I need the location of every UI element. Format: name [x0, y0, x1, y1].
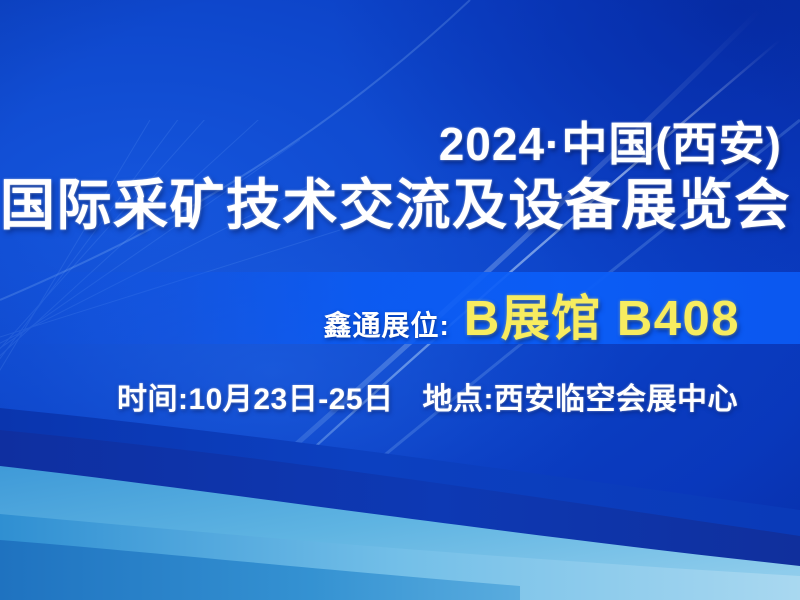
- booth-number: B展馆 B408: [464, 279, 740, 350]
- poster-title-line-2: 国际采矿技术交流及设备展览会: [0, 176, 782, 234]
- event-venue: 地点:西安临空会展中心: [423, 383, 739, 416]
- poster-title-block: 2024·中国(西安) 国际采矿技术交流及设备展览会: [0, 120, 782, 234]
- event-info-row: 时间:10月23日-25日 地点:西安临空会展中心: [0, 374, 738, 418]
- booth-label: 鑫通展位:: [324, 304, 450, 344]
- event-date: 时间:10月23日-25日: [117, 383, 394, 416]
- poster-content: 2024·中国(西安) 国际采矿技术交流及设备展览会 鑫通展位: B展馆 B40…: [0, 0, 800, 600]
- booth-info-row: 鑫通展位: B展馆 B408: [324, 279, 740, 350]
- exhibition-poster: 2024·中国(西安) 国际采矿技术交流及设备展览会 鑫通展位: B展馆 B40…: [0, 0, 800, 600]
- poster-title-line-1: 2024·中国(西安): [0, 120, 782, 170]
